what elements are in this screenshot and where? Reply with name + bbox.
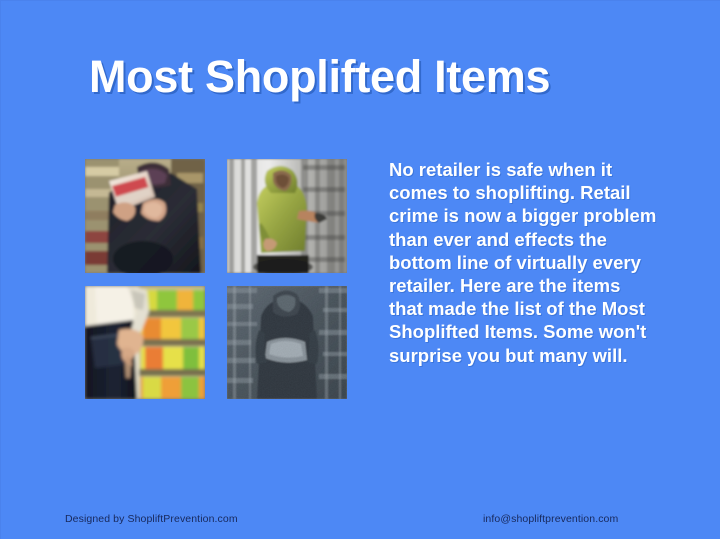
hooded-shoplifter-aisle-image xyxy=(227,159,347,273)
security-camera-footage-image xyxy=(227,286,347,399)
footer-contact-email: info@shopliftprevention.com xyxy=(483,513,618,525)
photo-grid xyxy=(85,159,347,399)
hooded-shoplifter-aisle-photo xyxy=(227,159,347,273)
item-into-back-pocket-photo xyxy=(85,286,205,399)
page-title: Most Shoplifted Items xyxy=(89,53,550,100)
footer-designed-by: Designed by ShopliftPrevention.com xyxy=(65,513,238,525)
shoplifter-concealing-package-image xyxy=(85,159,205,273)
security-camera-footage-photo xyxy=(227,286,347,399)
item-into-back-pocket-image xyxy=(85,286,205,399)
presentation-slide: Most Shoplifted Items xyxy=(0,0,720,539)
shoplifter-concealing-package-photo xyxy=(85,159,205,273)
body-paragraph: No retailer is safe when it comes to sho… xyxy=(389,158,657,367)
